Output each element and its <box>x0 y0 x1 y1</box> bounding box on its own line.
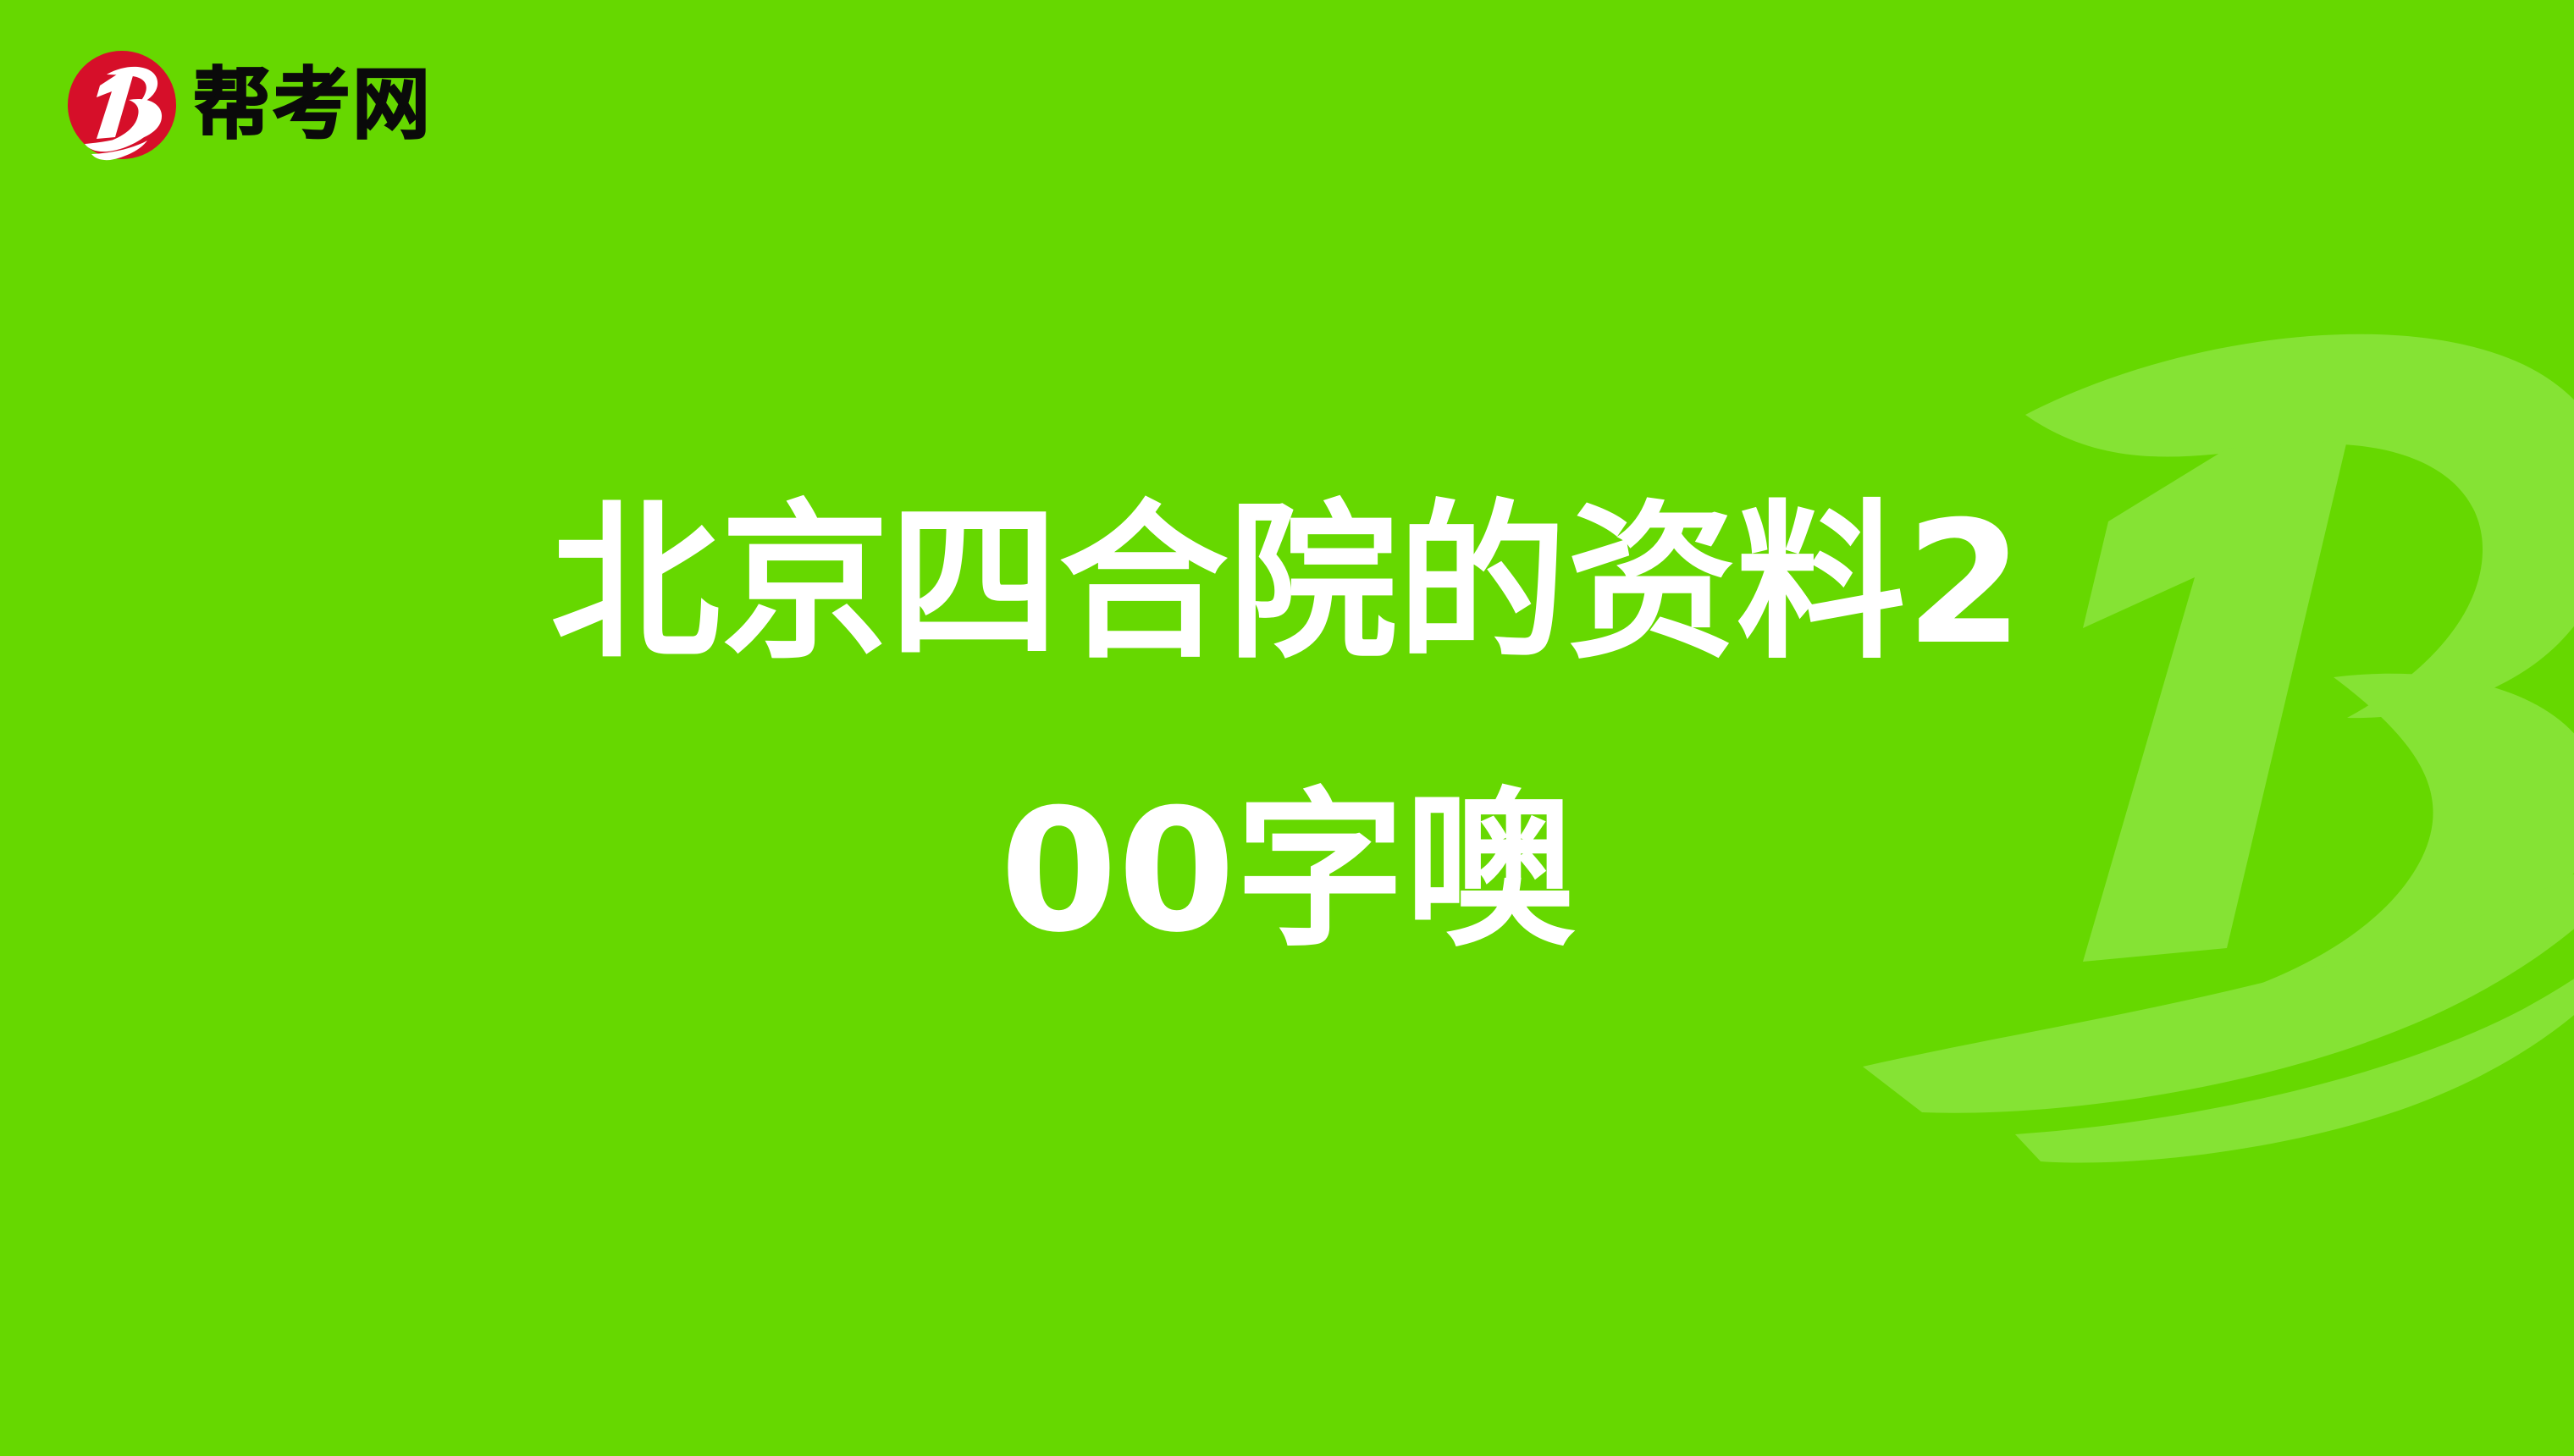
brand-logo[interactable]: 帮考网 <box>66 49 432 161</box>
brand-wordmark: 帮考网 <box>193 66 432 144</box>
page-title: 北京四合院的资料200字噢 <box>525 440 2049 1016</box>
page-canvas: 帮考网 北京四合院的资料200字噢 <box>0 0 2574 1456</box>
bangkao-b-watermark-icon <box>1829 279 2574 1177</box>
bangkao-b-logo-icon <box>66 49 178 161</box>
title-container: 北京四合院的资料200字噢 <box>0 0 2574 1456</box>
